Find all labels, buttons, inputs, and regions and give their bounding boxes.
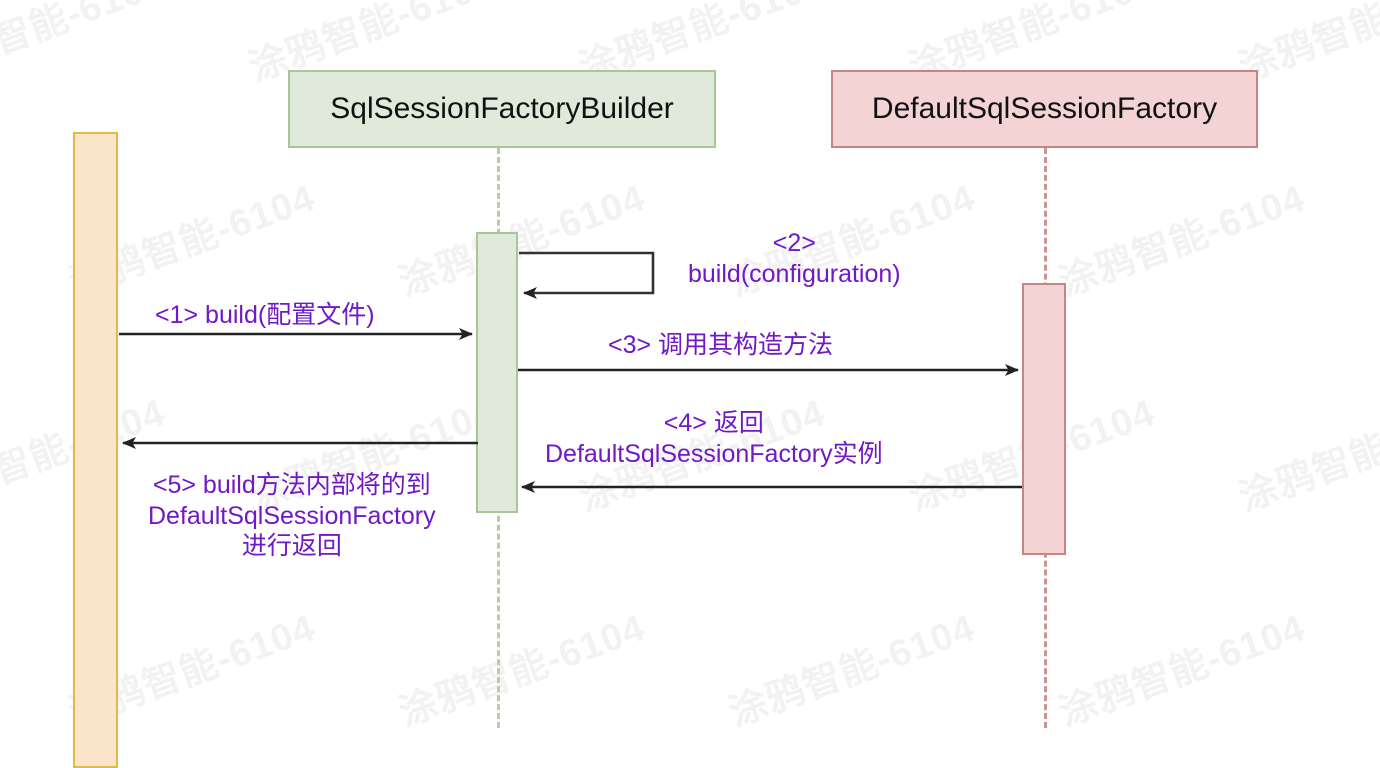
message-2-line-2: build(configuration) — [688, 259, 901, 290]
message-label-1: <1> build(配置文件) — [155, 300, 375, 331]
message-label-2: <2> build(configuration) — [688, 228, 901, 289]
participant-label-defaultsqlsessionfactory: DefaultSqlSessionFactory — [872, 92, 1217, 126]
message-5-line-1: <5> build方法内部将的到 — [148, 470, 436, 501]
message-4-line-2: DefaultSqlSessionFactory实例 — [545, 439, 883, 470]
message-label-4: <4> 返回 DefaultSqlSessionFactory实例 — [545, 408, 883, 469]
sequence-diagram-canvas: 涂鸦智能-6104涂鸦智能-6104涂鸦智能-6104涂鸦智能-6104涂鸦智能… — [0, 0, 1380, 768]
message-3-line-1: <3> 调用其构造方法 — [608, 330, 833, 361]
activation-defaultsqlsessionfactory[interactable] — [1022, 283, 1066, 555]
participant-defaultsqlsessionfactory[interactable]: DefaultSqlSessionFactory — [831, 70, 1258, 148]
participant-sqlsessionfactorybuilder[interactable]: SqlSessionFactoryBuilder — [288, 70, 716, 148]
message-5-line-2: DefaultSqlSessionFactory — [148, 501, 436, 532]
message-4-line-1: <4> 返回 — [545, 408, 883, 439]
activation-sqlsessionfactorybuilder[interactable] — [476, 232, 518, 513]
diagram-layer: SqlSessionFactoryBuilder DefaultSqlSessi… — [0, 0, 1380, 768]
message-2-line-1: <2> — [688, 228, 901, 259]
actor-lifeline-bar[interactable] — [73, 132, 118, 768]
message-label-5: <5> build方法内部将的到 DefaultSqlSessionFactor… — [148, 470, 436, 562]
participant-label-sqlsessionfactorybuilder: SqlSessionFactoryBuilder — [330, 92, 674, 126]
message-label-3: <3> 调用其构造方法 — [608, 330, 833, 361]
arrow-message-2-selfcall[interactable] — [519, 253, 653, 293]
message-5-line-3: 进行返回 — [148, 531, 436, 562]
message-1-line-1: <1> build(配置文件) — [155, 300, 375, 331]
